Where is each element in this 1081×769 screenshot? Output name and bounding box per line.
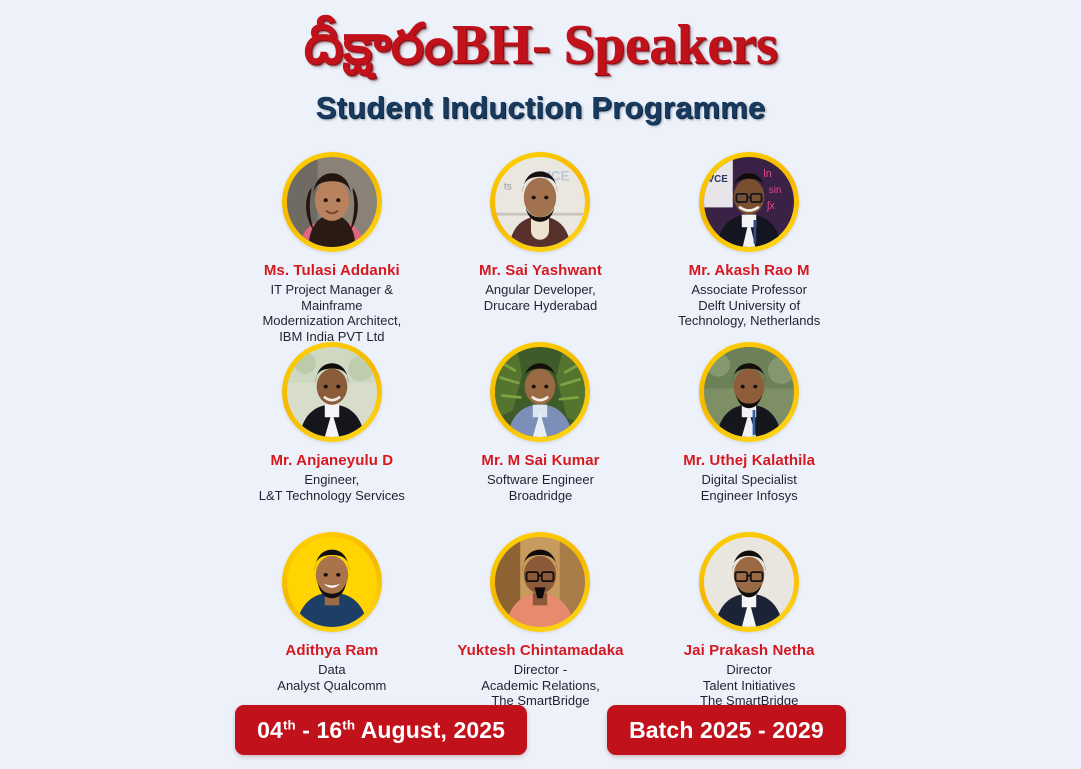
speaker-card: Adithya Ram Data Analyst Qualcomm [231,532,434,722]
avatar-ring: VCE ln sin ʃx [699,152,799,252]
speaker-role: Data Analyst Qualcomm [277,662,386,693]
speaker-name: Mr. Anjaneyulu D [270,451,393,470]
speaker-role: IT Project Manager & Mainframe Moderniza… [262,282,401,344]
speaker-name: Ms. Tulasi Addanki [264,261,400,280]
speaker-name: Mr. Sai Yashwant [479,261,602,280]
avatar-jai-prakash-netha [704,537,794,627]
speaker-role: Software Engineer Broadridge [487,472,594,503]
avatar-ring [699,342,799,442]
avatar-anjaneyulu-d [287,347,377,437]
date-badge-separator: - [296,717,317,743]
date-badge-month-year: August, 2025 [355,717,505,743]
poster-title-row: దీక్షారంBH- Speakers [304,14,778,76]
date-badge-sup2: th [342,717,355,732]
speaker-card: Mr. Anjaneyulu D Engineer, L&T Technolog… [231,342,434,532]
batch-badge: Batch 2025 - 2029 [607,705,846,755]
date-badge-day2: 16 [316,717,342,743]
footer-badges: 04th - 16th August, 2025 Batch 2025 - 20… [0,705,1081,755]
svg-text:sin: sin [769,185,782,196]
speaker-name: Mr. Akash Rao M [689,261,810,280]
svg-text:ts: ts [504,181,512,192]
speaker-role: Angular Developer, Drucare Hyderabad [484,282,597,313]
speaker-role: Director - Academic Relations, The Smart… [481,662,600,709]
speaker-card: VCE ts Mr. Sai Yashwant Angular Develope… [439,152,642,342]
speaker-role: Associate Professor Delft University of … [678,282,820,329]
speaker-name: Mr. M Sai Kumar [481,451,599,470]
avatar-ring [282,152,382,252]
speakers-poster: దీక్షారంBH- Speakers Student Induction P… [0,0,1081,769]
speaker-card: Mr. Uthej Kalathila Digital Specialist E… [648,342,851,532]
date-badge: 04th - 16th August, 2025 [235,705,527,755]
speaker-card: VCE ln sin ʃx [648,152,851,342]
avatar-ring [490,342,590,442]
avatar-tulasi-addanki [287,157,377,247]
svg-text:ln: ln [764,168,772,180]
speaker-role: Director Talent Initiatives The SmartBri… [700,662,798,709]
speaker-name: Adithya Ram [285,641,378,660]
speaker-card: Yuktesh Chintamadaka Director - Academic… [439,532,642,722]
speaker-role: Engineer, L&T Technology Services [259,472,405,503]
avatar-m-sai-kumar [495,347,585,437]
avatar-uthej-kalathila [704,347,794,437]
avatar-ring [282,342,382,442]
speaker-role: Digital Specialist Engineer Infosys [701,472,798,503]
speaker-name: Jai Prakash Netha [684,641,815,660]
svg-text:ʃx: ʃx [766,200,775,212]
avatar-ring [490,532,590,632]
avatar-sai-yashwant: VCE ts [495,157,585,247]
speaker-card: Mr. M Sai Kumar Software Engineer Broadr… [439,342,642,532]
date-badge-day1: 04 [257,717,283,743]
speaker-name: Yuktesh Chintamadaka [457,641,623,660]
speaker-name: Mr. Uthej Kalathila [683,451,815,470]
speakers-grid: Ms. Tulasi Addanki IT Project Manager & … [231,152,851,722]
avatar-ring [699,532,799,632]
avatar-akash-rao-m: VCE ln sin ʃx [704,157,794,247]
avatar-yuktesh-chintamadaka [495,537,585,627]
avatar-ring [282,532,382,632]
speaker-card: Jai Prakash Netha Director Talent Initia… [648,532,851,722]
svg-text:VCE: VCE [708,174,729,185]
avatar-ring: VCE ts [490,152,590,252]
avatar-adithya-ram [287,537,377,627]
speaker-card: Ms. Tulasi Addanki IT Project Manager & … [231,152,434,342]
poster-subtitle: Student Induction Programme [316,90,766,126]
page-title: దీక్షారంBH- Speakers [304,15,778,75]
date-badge-sup1: th [283,717,296,732]
